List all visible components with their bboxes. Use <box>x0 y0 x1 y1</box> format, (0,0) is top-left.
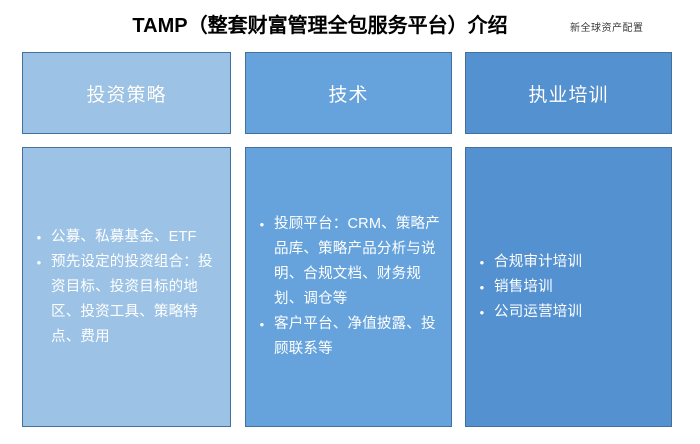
list-item: • 投顾平台：CRM、策略产品库、策略产品分析与说明、合规文档、财务规划、调仓等 <box>250 212 445 312</box>
list-item-label: 客户平台、净值披露、投顾联系等 <box>274 312 445 362</box>
slide-header: TAMP（整套财富管理全包服务平台）介绍 新全球资产配置 <box>0 0 700 48</box>
bullet-dot-icon: • <box>27 250 51 275</box>
bullet-dot-icon: • <box>250 312 274 337</box>
column-body-investment-strategy: • 公募、私募基金、ETF • 预先设定的投资组合：投资目标、投资目标的地区、投… <box>22 147 231 427</box>
list-item: • 合规审计培训 <box>470 250 665 275</box>
column-header-technology[interactable]: 技术 <box>245 52 452 134</box>
list-item: • 销售培训 <box>470 275 665 300</box>
column-investment-strategy: 投资策略 • 公募、私募基金、ETF • 预先设定的投资组合：投资目标、投资目标… <box>22 52 231 428</box>
list-item-label: 销售培训 <box>494 275 665 300</box>
column-header-professional-training[interactable]: 执业培训 <box>465 52 672 134</box>
list-item: • 公司运营培训 <box>470 300 665 325</box>
column-body-professional-training: • 合规审计培训 • 销售培训 • 公司运营培训 <box>465 147 672 427</box>
column-header-investment-strategy[interactable]: 投资策略 <box>22 52 231 134</box>
brand-subtitle: 新全球资产配置 <box>570 22 644 36</box>
page-title: TAMP（整套财富管理全包服务平台）介绍 <box>90 13 550 39</box>
list-item-label: 公司运营培训 <box>494 300 665 325</box>
bullet-dot-icon: • <box>27 225 51 250</box>
column-body-technology: • 投顾平台：CRM、策略产品库、策略产品分析与说明、合规文档、财务规划、调仓等… <box>245 147 452 427</box>
column-technology: 技术 • 投顾平台：CRM、策略产品库、策略产品分析与说明、合规文档、财务规划、… <box>245 52 452 428</box>
bullet-list: • 公募、私募基金、ETF • 预先设定的投资组合：投资目标、投资目标的地区、投… <box>27 225 224 350</box>
column-header-label: 技术 <box>328 80 368 107</box>
bullet-list: • 投顾平台：CRM、策略产品库、策略产品分析与说明、合规文档、财务规划、调仓等… <box>250 212 445 362</box>
list-item-label: 合规审计培训 <box>494 250 665 275</box>
list-item-label: 投顾平台：CRM、策略产品库、策略产品分析与说明、合规文档、财务规划、调仓等 <box>274 212 445 312</box>
bullet-list: • 合规审计培训 • 销售培训 • 公司运营培训 <box>470 250 665 325</box>
list-item: • 客户平台、净值披露、投顾联系等 <box>250 312 445 362</box>
list-item-label: 预先设定的投资组合：投资目标、投资目标的地区、投资工具、策略特点、费用 <box>51 250 224 350</box>
list-item: • 预先设定的投资组合：投资目标、投资目标的地区、投资工具、策略特点、费用 <box>27 250 224 350</box>
list-item-label: 公募、私募基金、ETF <box>51 225 224 250</box>
bullet-dot-icon: • <box>250 212 274 237</box>
column-header-label: 投资策略 <box>86 80 166 107</box>
bullet-dot-icon: • <box>470 300 494 325</box>
bullet-dot-icon: • <box>470 250 494 275</box>
column-professional-training: 执业培训 • 合规审计培训 • 销售培训 • 公司运营培训 <box>465 52 672 428</box>
column-header-label: 执业培训 <box>528 80 608 107</box>
list-item: • 公募、私募基金、ETF <box>27 225 224 250</box>
bullet-dot-icon: • <box>470 275 494 300</box>
